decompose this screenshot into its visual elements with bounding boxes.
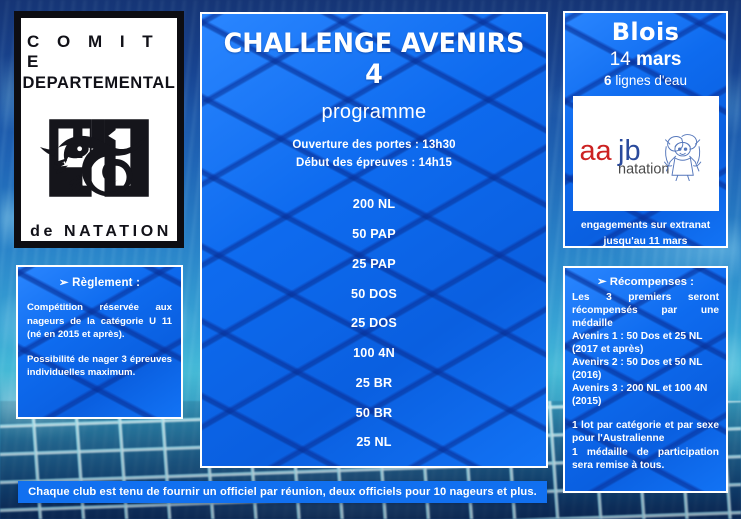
events-start-time: Début des épreuves : 14h15 xyxy=(202,155,546,173)
federation-logo-card: C O M I T E DEPARTEMENTAL de NATATION xyxy=(14,11,184,248)
venue-panel: Blois 14 mars 6 lignes d'eau aa jb natat… xyxy=(563,11,728,248)
event-item: 50 DOS xyxy=(202,279,546,309)
page-title: CHALLENGE AVENIRS 4 xyxy=(212,28,535,90)
svg-text:natation: natation xyxy=(618,161,669,177)
event-item: 25 BR xyxy=(202,368,546,398)
entries-line-2: jusqu'au 11 mars xyxy=(565,234,726,248)
venue-city: Blois xyxy=(565,18,726,46)
venue-date: 14 mars xyxy=(565,49,726,71)
awards-category-1: Avenirs 1 : 50 Dos et 25 NL (2017 et apr… xyxy=(572,330,719,356)
programme-subtitle: programme xyxy=(202,101,546,124)
rules-paragraph-2: Possibilité de nager 3 épreuves individu… xyxy=(27,353,172,380)
event-item: 200 NL xyxy=(202,190,546,220)
aajb-natation-logo-icon: aa jb natation xyxy=(575,127,717,181)
awards-heading: ➢ Récompenses : xyxy=(572,274,719,288)
rules-panel: ➢ Règlement : Compétition réservée aux n… xyxy=(16,265,183,419)
awards-category-2: Avenirs 2 : 50 Dos et 50 NL (2016) xyxy=(572,356,719,382)
event-item: 100 4N xyxy=(202,339,546,369)
salamander-41-emblem-icon xyxy=(31,99,167,217)
officials-banner-text: Chaque club est tenu de fournir un offic… xyxy=(28,486,537,498)
awards-category-3: Avenirs 3 : 200 NL et 100 4N (2015) xyxy=(572,382,719,408)
event-item: 25 NL xyxy=(202,428,546,458)
venue-lanes: 6 lignes d'eau xyxy=(565,73,726,88)
awards-intro: Les 3 premiers seront récompensés par un… xyxy=(572,291,719,330)
event-item: 50 PAP xyxy=(202,219,546,249)
arrow-bullet-icon: ➢ xyxy=(59,277,69,289)
venue-lanes-number: 6 xyxy=(604,73,612,88)
venue-date-month: mars xyxy=(636,49,681,70)
venue-date-number: 14 xyxy=(610,49,631,70)
federation-logo-line2: DEPARTEMENTAL xyxy=(23,74,176,93)
entries-line-1: engagements sur extranat xyxy=(565,218,726,234)
rules-heading: ➢ Règlement : xyxy=(27,275,172,289)
doors-open-time: Ouverture des portes : 13h30 xyxy=(202,137,546,155)
rules-paragraph-1: Compétition réservée aux nageurs de la c… xyxy=(27,301,172,342)
event-item: 50 NL xyxy=(202,458,546,468)
awards-panel: ➢ Récompenses : Les 3 premiers seront ré… xyxy=(563,266,728,493)
awards-spacer xyxy=(572,408,719,419)
programme-times: Ouverture des portes : 13h30 Début des é… xyxy=(202,137,546,173)
rules-heading-label: Règlement : xyxy=(72,277,140,289)
awards-note-2: 1 médaille de participation sera remise … xyxy=(572,446,719,472)
event-item: 25 DOS xyxy=(202,309,546,339)
club-logo-card: aa jb natation xyxy=(573,96,719,211)
event-item: 50 BR xyxy=(202,398,546,428)
event-list: 200 NL 50 PAP 25 PAP 50 DOS 25 DOS 100 4… xyxy=(202,190,546,468)
awards-heading-label: Récompenses : xyxy=(610,276,694,288)
federation-logo-line1: C O M I T E xyxy=(21,32,177,72)
event-item: 25 PAP xyxy=(202,249,546,279)
officials-banner: Chaque club est tenu de fournir un offic… xyxy=(18,481,547,503)
venue-lanes-label: lignes d'eau xyxy=(615,73,687,88)
awards-note-1: 1 lot par catégorie et par sexe pour l'A… xyxy=(572,419,719,445)
entries-info: engagements sur extranat jusqu'au 11 mar… xyxy=(565,218,726,248)
svg-text:aa: aa xyxy=(579,134,612,166)
federation-logo-line3: de NATATION xyxy=(26,223,172,241)
poster-root: C O M I T E DEPARTEMENTAL de NATATION xyxy=(0,0,741,519)
programme-panel: CHALLENGE AVENIRS 4 programme Ouverture … xyxy=(200,12,548,468)
arrow-bullet-icon: ➢ xyxy=(597,276,607,288)
